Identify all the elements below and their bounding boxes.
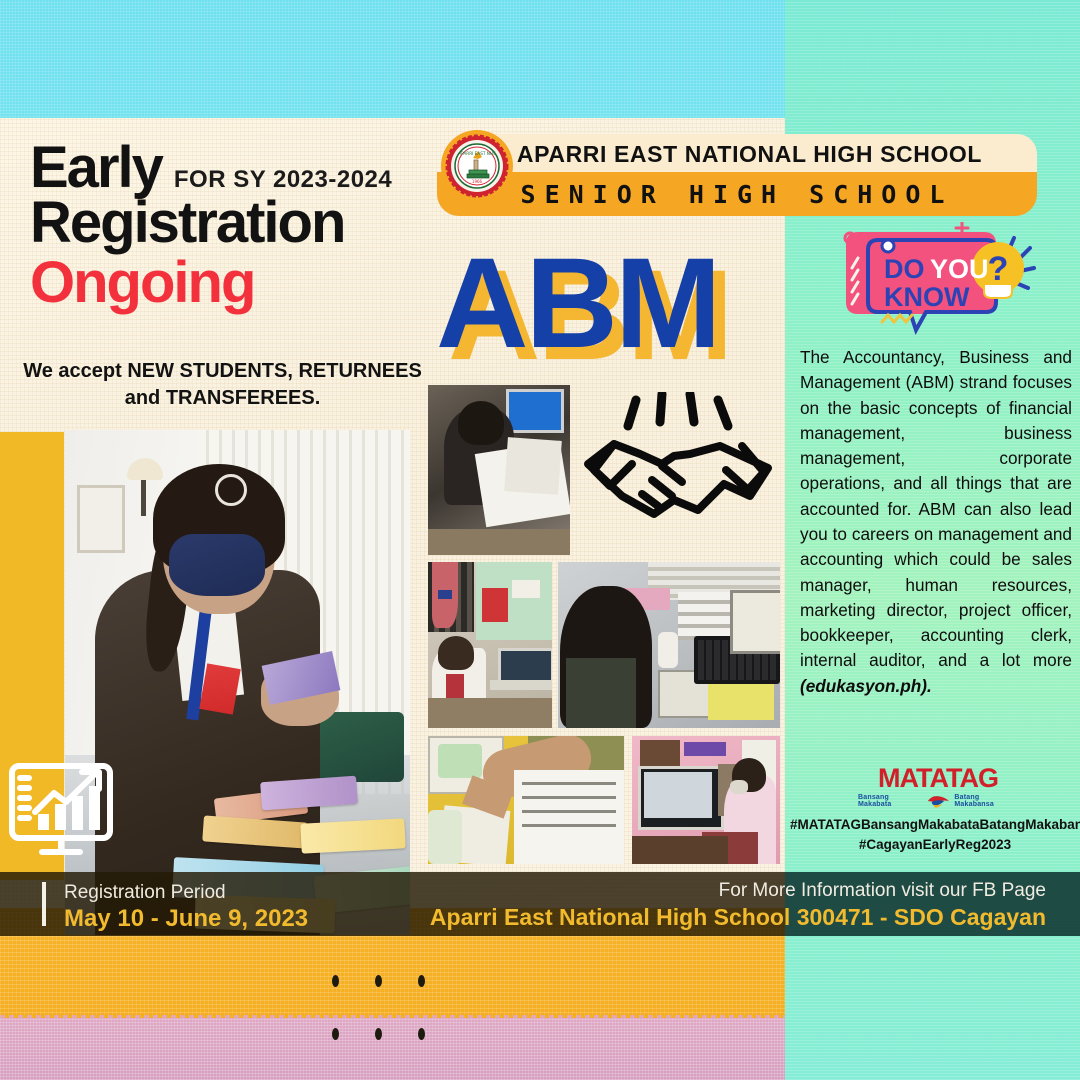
strand-description: The Accountancy, Business and Management… [800, 345, 1072, 699]
matatag-left-tagline: Bansang Makabata [858, 794, 922, 808]
school-level-strip: SENIOR HIGH SCHOOL [437, 172, 1037, 216]
headline-registration: Registration [30, 194, 420, 252]
handshake-icon [578, 392, 778, 532]
headline-block: EarlyFOR SY 2023-2024 Registration Ongoi… [30, 140, 420, 312]
hashtag-2: #CagayanEarlyReg2023 [790, 835, 1080, 855]
matatag-right-tagline: Batang Makabansa [954, 794, 1018, 808]
strand-wordmark: ABM ABM [430, 232, 780, 362]
photo-student-using-laptop [428, 562, 552, 728]
badge-question-mark: ? [988, 250, 1009, 288]
matatag-taglines: Bansang Makabata Batang Makabansa [858, 794, 1018, 808]
photo-hands-filling-form [428, 736, 624, 864]
svg-text:APARRI EAST NHS: APARRI EAST NHS [458, 151, 496, 156]
headline-early: Early [30, 140, 162, 196]
footer-fb-page: Aparri East National High School 300471 … [430, 904, 1046, 931]
do-you-know-badge: ? DO YOU KNOW [828, 222, 1043, 337]
photo-student-writing-ledger [428, 385, 570, 555]
decorative-dots-top [332, 975, 425, 987]
hashtag-1: #MATATAGBansangMakabataBatangMakabansa [790, 815, 1080, 835]
decorative-dots-bottom [332, 1028, 425, 1040]
headline-ongoing: Ongoing [30, 254, 420, 312]
badge-know-text: KNOW [884, 282, 970, 312]
poster-root: EarlyFOR SY 2023-2024 Registration Ongoi… [0, 0, 1080, 1080]
photo-student-with-calculator-office [558, 562, 780, 728]
school-seal-icon: APARRI EAST NHS 1966 [441, 130, 513, 202]
badge-do-text: DO [884, 254, 925, 284]
matatag-hands-icon [926, 794, 951, 808]
footer-registration-label: Registration Period [64, 882, 226, 904]
strand-description-text: The Accountancy, Business and Management… [800, 347, 1072, 670]
accept-statement: We accept NEW STUDENTS, RETURNEES and TR… [20, 358, 425, 412]
strand-code: ABM [436, 240, 719, 368]
matatag-logo: MATATAG Bansang Makabata Batang Makabans… [858, 765, 1018, 813]
analytics-monitor-icon [2, 752, 122, 862]
hashtag-block: #MATATAGBansangMakabataBatangMakabansa #… [790, 815, 1080, 856]
footer-divider-tick [42, 882, 46, 926]
school-level-text: SENIOR HIGH SCHOOL [521, 180, 954, 209]
accept-line-1: We accept NEW STUDENTS, RETURNEES [20, 358, 425, 385]
svg-text:1966: 1966 [472, 179, 483, 184]
footer-registration-dates: May 10 - June 9, 2023 [64, 905, 308, 933]
school-header-banner: APARRI EAST NATIONAL HIGH SCHOOL SENIOR … [437, 134, 1037, 216]
footer-info-label: For More Information visit our FB Page [719, 880, 1046, 902]
accept-line-2: and TRANSFEREES. [20, 385, 425, 412]
photo-student-at-computer [632, 736, 780, 864]
school-name-strip: APARRI EAST NATIONAL HIGH SCHOOL [462, 134, 1037, 174]
footer-bar: Registration Period May 10 - June 9, 202… [0, 872, 1080, 936]
matatag-wordmark: MATATAG [858, 765, 1018, 792]
school-name-text: APARRI EAST NATIONAL HIGH SCHOOL [517, 141, 982, 168]
badge-you-text: YOU [930, 254, 989, 284]
strand-description-source: (edukasyon.ph). [800, 676, 932, 696]
